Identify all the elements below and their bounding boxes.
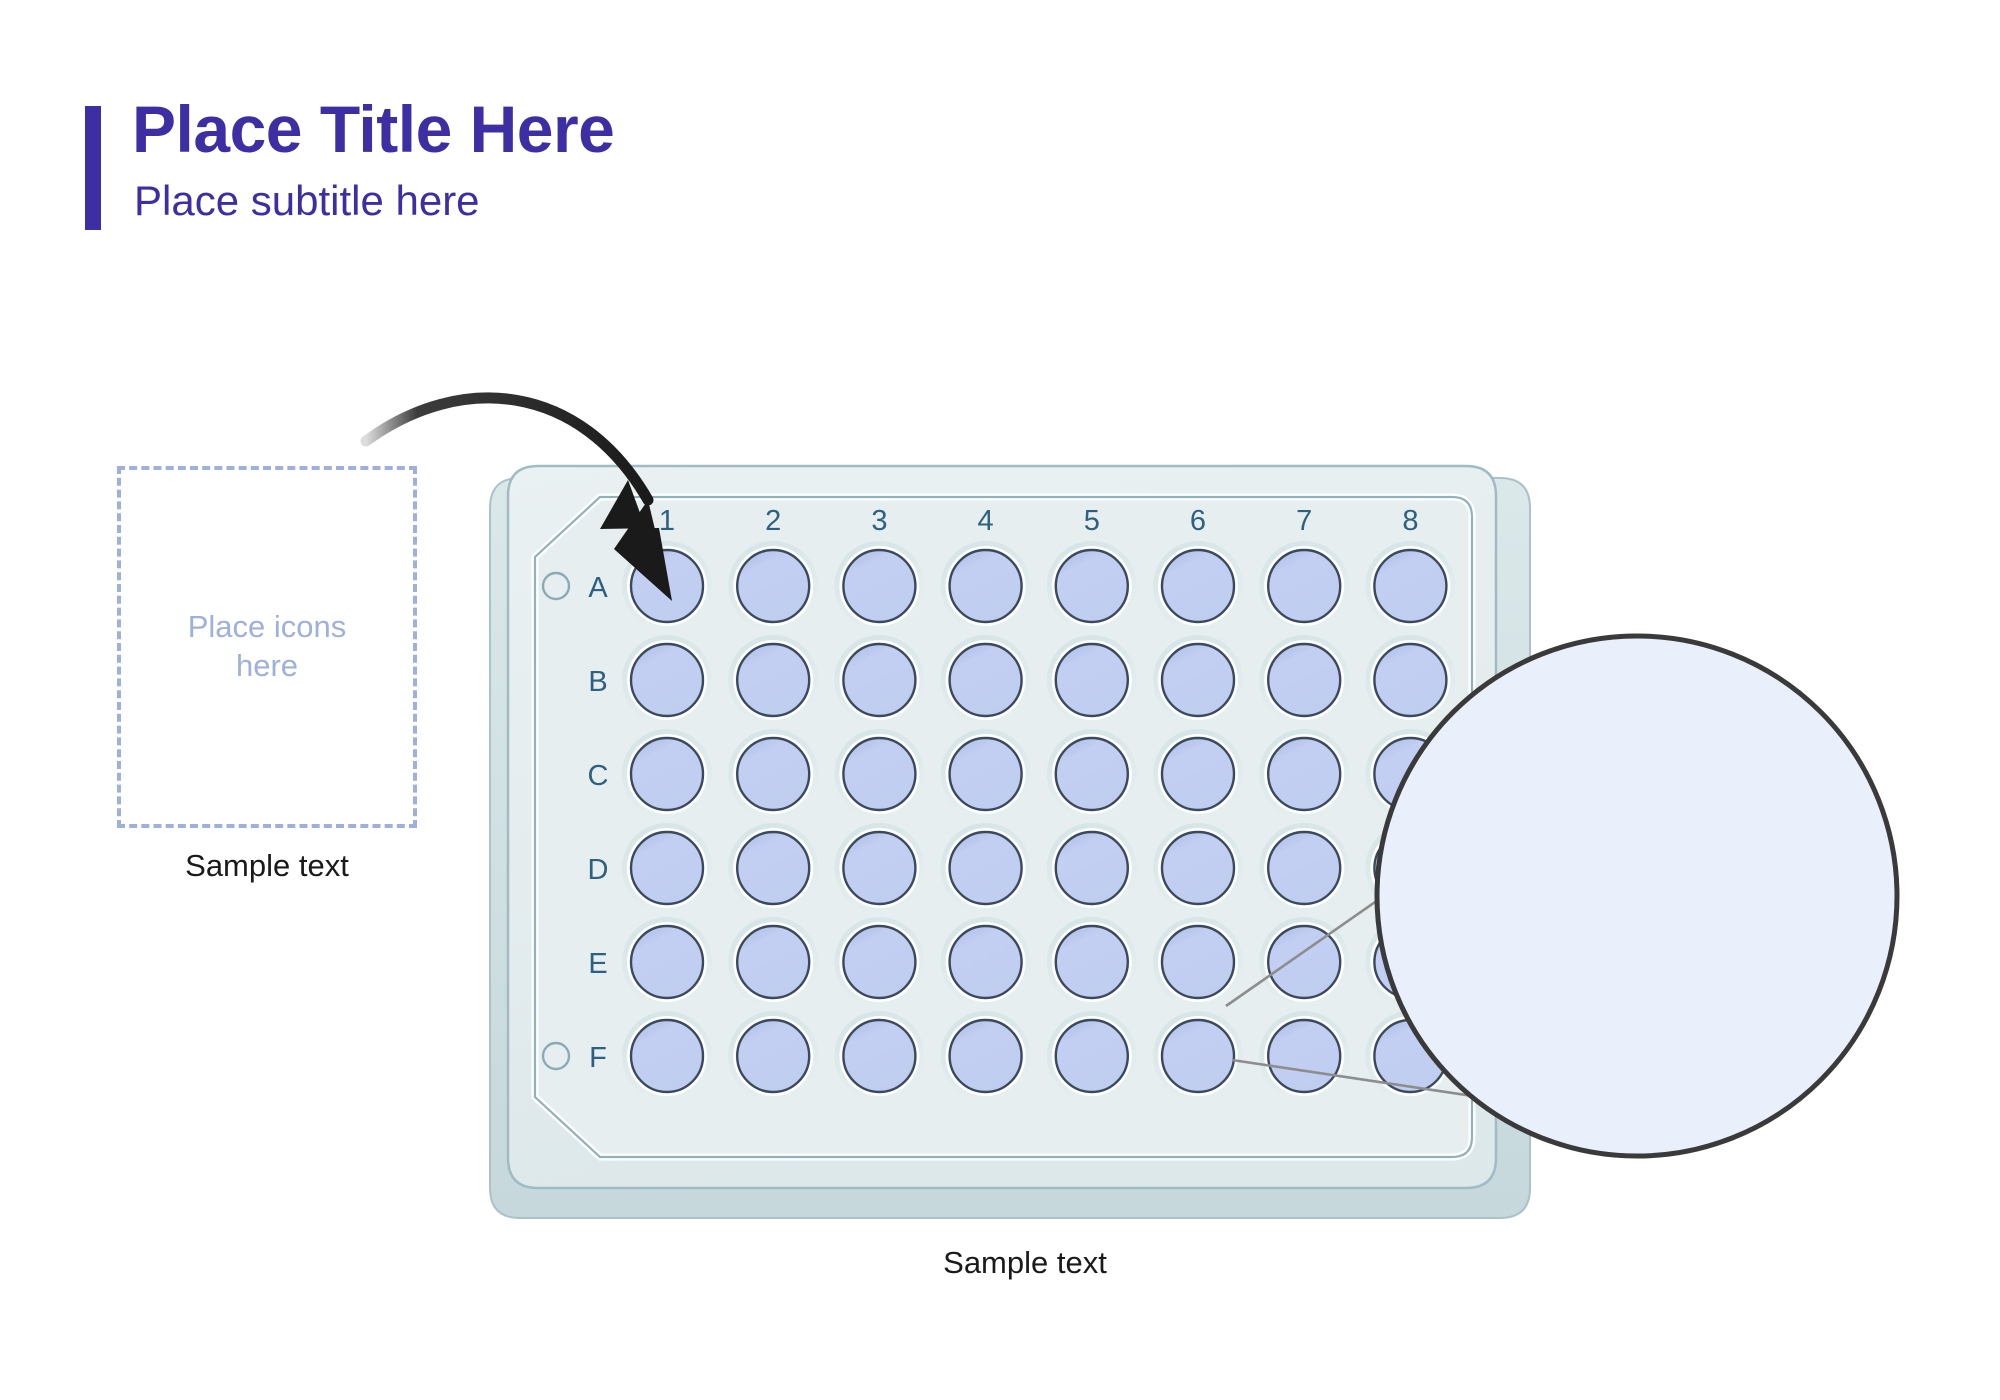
- well-D3[interactable]: [834, 823, 924, 913]
- well-disc: [1162, 832, 1234, 904]
- well-E4[interactable]: [941, 917, 1031, 1007]
- well-A8[interactable]: [1365, 541, 1455, 631]
- well-disc: [1374, 644, 1446, 716]
- well-disc: [950, 644, 1022, 716]
- well-disc: [1162, 926, 1234, 998]
- row-label-B: B: [588, 666, 607, 698]
- well-disc: [950, 926, 1022, 998]
- well-disc: [737, 644, 809, 716]
- well-disc: [1268, 644, 1340, 716]
- well-A2[interactable]: [728, 541, 818, 631]
- well-D2[interactable]: [728, 823, 818, 913]
- icon-placeholder-box[interactable]: Place icons here: [117, 466, 417, 828]
- well-F7[interactable]: [1259, 1011, 1349, 1101]
- page-title: Place Title Here: [132, 92, 614, 168]
- well-C1[interactable]: [622, 729, 712, 819]
- well-D6[interactable]: [1153, 823, 1243, 913]
- well-D4[interactable]: [941, 823, 1031, 913]
- well-D5[interactable]: [1047, 823, 1137, 913]
- well-disc: [843, 832, 915, 904]
- well-C6[interactable]: [1153, 729, 1243, 819]
- well-B2[interactable]: [728, 635, 818, 725]
- well-disc: [631, 1020, 703, 1092]
- slide-header: Place Title Here Place subtitle here: [85, 100, 1085, 235]
- icon-placeholder-caption: Sample text: [117, 848, 417, 884]
- well-D7[interactable]: [1259, 823, 1349, 913]
- well-disc: [1056, 1020, 1128, 1092]
- well-disc: [737, 832, 809, 904]
- well-B3[interactable]: [834, 635, 924, 725]
- row-label-C: C: [588, 760, 609, 792]
- well-C7[interactable]: [1259, 729, 1349, 819]
- column-label-3: 3: [871, 505, 887, 537]
- well-F3[interactable]: [834, 1011, 924, 1101]
- well-E6[interactable]: [1153, 917, 1243, 1007]
- well-disc: [737, 926, 809, 998]
- well-B1[interactable]: [622, 635, 712, 725]
- well-disc: [950, 738, 1022, 810]
- row-label-D: D: [588, 854, 609, 886]
- well-B4[interactable]: [941, 635, 1031, 725]
- well-disc: [631, 926, 703, 998]
- well-disc: [950, 1020, 1022, 1092]
- column-label-5: 5: [1084, 505, 1100, 537]
- well-disc: [1056, 550, 1128, 622]
- well-disc: [1268, 550, 1340, 622]
- well-disc: [737, 1020, 809, 1092]
- well-F6[interactable]: [1153, 1011, 1243, 1101]
- well-disc: [737, 738, 809, 810]
- well-B6[interactable]: [1153, 635, 1243, 725]
- well-disc: [1056, 832, 1128, 904]
- well-disc: [1056, 644, 1128, 716]
- well-B7[interactable]: [1259, 635, 1349, 725]
- well-C5[interactable]: [1047, 729, 1137, 819]
- row-label-A: A: [588, 572, 608, 604]
- well-disc: [950, 832, 1022, 904]
- well-disc: [1374, 550, 1446, 622]
- row-label-F: F: [589, 1042, 607, 1074]
- well-disc: [1268, 926, 1340, 998]
- column-label-7: 7: [1296, 505, 1312, 537]
- plate-caption: Sample text: [760, 1245, 1290, 1281]
- column-label-6: 6: [1190, 505, 1206, 537]
- well-F4[interactable]: [941, 1011, 1031, 1101]
- well-disc: [843, 550, 915, 622]
- well-disc: [1268, 1020, 1340, 1092]
- well-E3[interactable]: [834, 917, 924, 1007]
- well-C4[interactable]: [941, 729, 1031, 819]
- well-disc: [843, 644, 915, 716]
- well-disc: [1162, 550, 1234, 622]
- well-D1[interactable]: [622, 823, 712, 913]
- well-disc: [843, 738, 915, 810]
- well-disc: [843, 1020, 915, 1092]
- well-disc: [631, 832, 703, 904]
- well-disc: [631, 644, 703, 716]
- magnifier-circle-icon[interactable]: [1377, 636, 1897, 1156]
- well-A3[interactable]: [834, 541, 924, 631]
- well-disc: [843, 926, 915, 998]
- microplate[interactable]: 12345678 ABCDEF: [490, 466, 1530, 1218]
- slide-canvas: 12345678 ABCDEF Place Title Here Place s…: [0, 0, 2000, 1400]
- well-A7[interactable]: [1259, 541, 1349, 631]
- column-label-4: 4: [978, 505, 994, 537]
- well-E2[interactable]: [728, 917, 818, 1007]
- column-label-8: 8: [1402, 505, 1418, 537]
- well-disc: [950, 550, 1022, 622]
- icon-placeholder-label: Place icons here: [188, 608, 347, 686]
- well-A5[interactable]: [1047, 541, 1137, 631]
- well-disc: [1268, 832, 1340, 904]
- well-disc: [1162, 1020, 1234, 1092]
- well-F2[interactable]: [728, 1011, 818, 1101]
- well-E5[interactable]: [1047, 917, 1137, 1007]
- well-disc: [737, 550, 809, 622]
- well-disc: [1162, 644, 1234, 716]
- well-B5[interactable]: [1047, 635, 1137, 725]
- title-accent-bar: [85, 106, 101, 230]
- well-disc: [1268, 738, 1340, 810]
- well-A4[interactable]: [941, 541, 1031, 631]
- well-A6[interactable]: [1153, 541, 1243, 631]
- well-disc: [1056, 926, 1128, 998]
- well-C3[interactable]: [834, 729, 924, 819]
- column-label-1: 1: [659, 505, 675, 537]
- well-disc: [631, 738, 703, 810]
- well-disc: [1162, 738, 1234, 810]
- column-label-2: 2: [765, 505, 781, 537]
- well-B8[interactable]: [1365, 635, 1455, 725]
- well-disc: [1056, 738, 1128, 810]
- well-F1[interactable]: [622, 1011, 712, 1101]
- page-subtitle: Place subtitle here: [134, 176, 480, 226]
- well-E1[interactable]: [622, 917, 712, 1007]
- well-F5[interactable]: [1047, 1011, 1137, 1101]
- well-C2[interactable]: [728, 729, 818, 819]
- row-label-E: E: [588, 948, 607, 980]
